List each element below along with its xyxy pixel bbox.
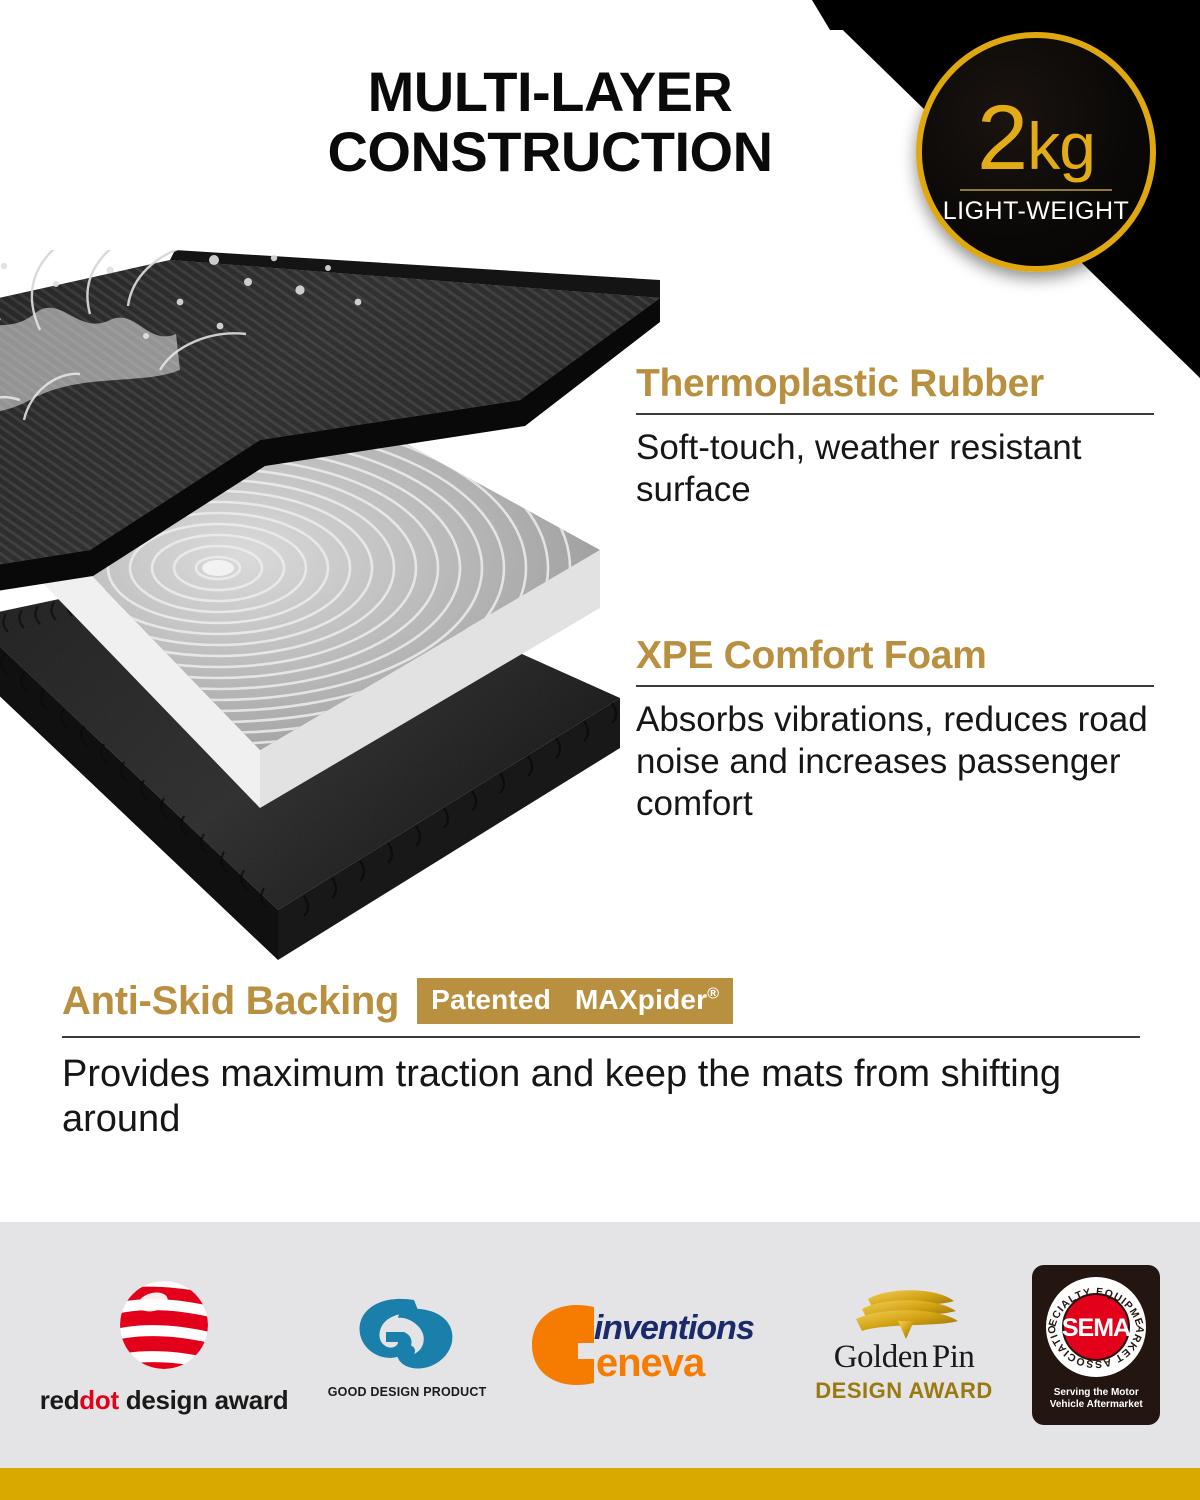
patented-label: Patented xyxy=(431,984,551,1015)
sema-caption: Serving the Motor Vehicle Aftermarket xyxy=(1050,1387,1143,1411)
good-design-monogram-icon xyxy=(352,1292,462,1380)
feature-divider xyxy=(636,685,1154,687)
anti-skid-title: Anti-Skid Backing xyxy=(62,979,399,1024)
light-weight-badge: 2kg LIGHT-WEIGHT xyxy=(916,32,1156,272)
infographic-page: MULTI-LAYER CONSTRUCTION 2kg LIGHT-WEIGH… xyxy=(0,0,1200,1500)
reddot-wordmark: reddot design award xyxy=(40,1385,289,1416)
svg-text:SEMA: SEMA xyxy=(1062,1314,1131,1342)
title-line-2: CONSTRUCTION xyxy=(250,122,850,182)
award-logo-inventions-geneva: inventions eneva xyxy=(526,1297,776,1393)
awards-footer: reddot design award GOOD DESIGN PRODUCT … xyxy=(0,1222,1200,1468)
feature-xpe-comfort-foam: XPE Comfort Foam Absorbs vibrations, red… xyxy=(636,636,1154,825)
award-logo-golden-pin: Golden Pin DESIGN AWARD xyxy=(815,1287,993,1404)
good-design-caption: GOOD DESIGN PRODUCT xyxy=(328,1385,487,1399)
maxpider-label: MAXpider xyxy=(575,984,707,1015)
feature-title: XPE Comfort Foam xyxy=(636,636,1154,677)
golden-pin-swoosh-icon xyxy=(844,1287,964,1339)
bottom-accent-bar xyxy=(0,1468,1200,1500)
feature-body: Absorbs vibrations, reduces road noise a… xyxy=(636,699,1154,825)
award-logo-reddot: reddot design award xyxy=(40,1275,289,1416)
title-line-1: MULTI-LAYER xyxy=(250,62,850,122)
feature-body: Soft-touch, weather resistant surface xyxy=(636,427,1154,511)
registered-mark-icon: ® xyxy=(707,986,719,1003)
feature-anti-skid-backing: Anti-Skid Backing Patented MAXpider® Pro… xyxy=(62,978,1144,1142)
anti-skid-divider xyxy=(62,1036,1140,1038)
anti-skid-body: Provides maximum traction and keep the m… xyxy=(62,1052,1144,1142)
anti-skid-header: Anti-Skid Backing Patented MAXpider® xyxy=(62,978,1144,1024)
badge-caption: LIGHT-WEIGHT xyxy=(943,197,1130,226)
award-logo-good-design: GOOD DESIGN PRODUCT xyxy=(328,1292,487,1399)
feature-thermoplastic-rubber: Thermoplastic Rubber Soft-touch, weather… xyxy=(636,364,1154,511)
badge-weight-value: 2kg xyxy=(977,96,1095,181)
patented-maxpider-badge: Patented MAXpider® xyxy=(417,978,733,1024)
sema-caption-line-1: Serving the Motor xyxy=(1050,1387,1143,1399)
sema-caption-line-2: Vehicle Aftermarket xyxy=(1050,1399,1143,1411)
golden-pin-caption: DESIGN AWARD xyxy=(815,1378,993,1404)
badge-weight-unit: kg xyxy=(1027,109,1095,183)
reddot-sphere-icon xyxy=(109,1275,219,1379)
golden-label: Golden xyxy=(834,1339,928,1376)
sema-seal-icon: SPECIALTY EQUIPMENT MARKET ASSOCIATION S… xyxy=(1041,1272,1151,1382)
page-title: MULTI-LAYER CONSTRUCTION xyxy=(250,62,850,182)
awards-row: reddot design award GOOD DESIGN PRODUCT … xyxy=(0,1222,1200,1468)
feature-title: Thermoplastic Rubber xyxy=(636,364,1154,405)
pin-label: Pin xyxy=(932,1339,975,1376)
award-logo-sema: SPECIALTY EQUIPMENT MARKET ASSOCIATION S… xyxy=(1032,1265,1160,1425)
badge-divider xyxy=(960,189,1112,191)
feature-divider xyxy=(636,413,1154,415)
golden-pin-wordmark: Golden Pin xyxy=(834,1339,975,1376)
eneva-wordmark: eneva xyxy=(596,1341,704,1386)
layered-mat-artwork xyxy=(0,250,660,980)
